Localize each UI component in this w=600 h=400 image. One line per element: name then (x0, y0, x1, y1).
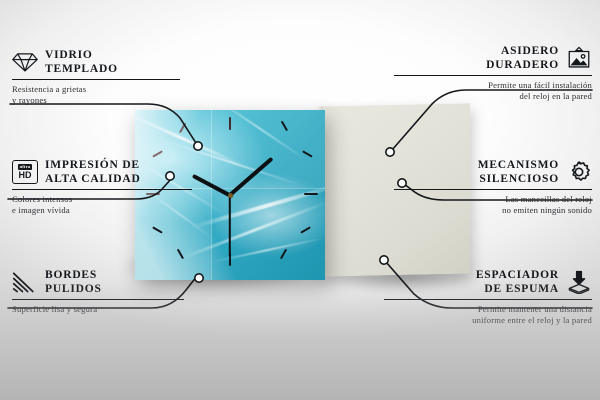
foam-spacer-icon (566, 270, 592, 294)
callout-title: ASIDERO DURADERO (486, 44, 559, 72)
polished-edge-icon (12, 270, 38, 294)
diamond-icon (12, 50, 38, 74)
callout-subtitle: Las manecillas del reloj no emiten ningú… (377, 194, 592, 216)
callout-title: BORDES PULIDOS (45, 268, 102, 296)
infographic-canvas: VIDRIO TEMPLADO Resistencia a grietas y … (0, 0, 600, 400)
callout-impresion-alta-calidad: ultra HD IMPRESIÓN DE ALTA CALIDAD Color… (12, 158, 207, 216)
callout-title: IMPRESIÓN DE ALTA CALIDAD (45, 158, 141, 186)
callout-espaciador-de-espuma: ESPACIADOR DE ESPUMA Permite mantener un… (367, 268, 592, 326)
second-hand (229, 195, 231, 257)
callout-vidrio-templado: VIDRIO TEMPLADO Resistencia a grietas y … (12, 48, 197, 106)
callout-mecanismo-silencioso: MECANISMO SILENCIOSO Las manecillas del … (377, 158, 592, 216)
title-rule (384, 299, 592, 300)
callout-asidero-duradero: ASIDERO DURADERO Permite una fácil insta… (377, 44, 592, 102)
callout-subtitle: Permite una fácil instalación del reloj … (377, 80, 592, 102)
minute-hand (229, 157, 274, 197)
callout-title: VIDRIO TEMPLADO (45, 48, 118, 76)
title-rule (394, 189, 592, 190)
callout-title: ESPACIADOR DE ESPUMA (476, 268, 559, 296)
callout-bordes-pulidos: BORDES PULIDOS Superficie lisa y segura (12, 268, 197, 315)
clock-center-pivot (228, 193, 233, 198)
connector-dot-vidrio (194, 142, 202, 150)
connector-dot-espaciador (380, 256, 388, 264)
callout-subtitle: Colores intensos e imagen vívida (12, 194, 207, 216)
title-rule (12, 299, 184, 300)
connector-dot-asidero (386, 148, 394, 156)
gear-icon (566, 160, 592, 184)
title-rule (12, 189, 192, 190)
picture-hanger-icon (566, 46, 592, 70)
callout-subtitle: Superficie lisa y segura (12, 304, 197, 315)
callout-subtitle: Permite mantener una distancia uniforme … (367, 304, 592, 326)
ultra-hd-icon: ultra HD (12, 160, 38, 184)
title-rule (12, 79, 180, 80)
callout-subtitle: Resistencia a grietas y rayones (12, 84, 197, 106)
title-rule (394, 75, 592, 76)
callout-title: MECANISMO SILENCIOSO (478, 158, 559, 186)
